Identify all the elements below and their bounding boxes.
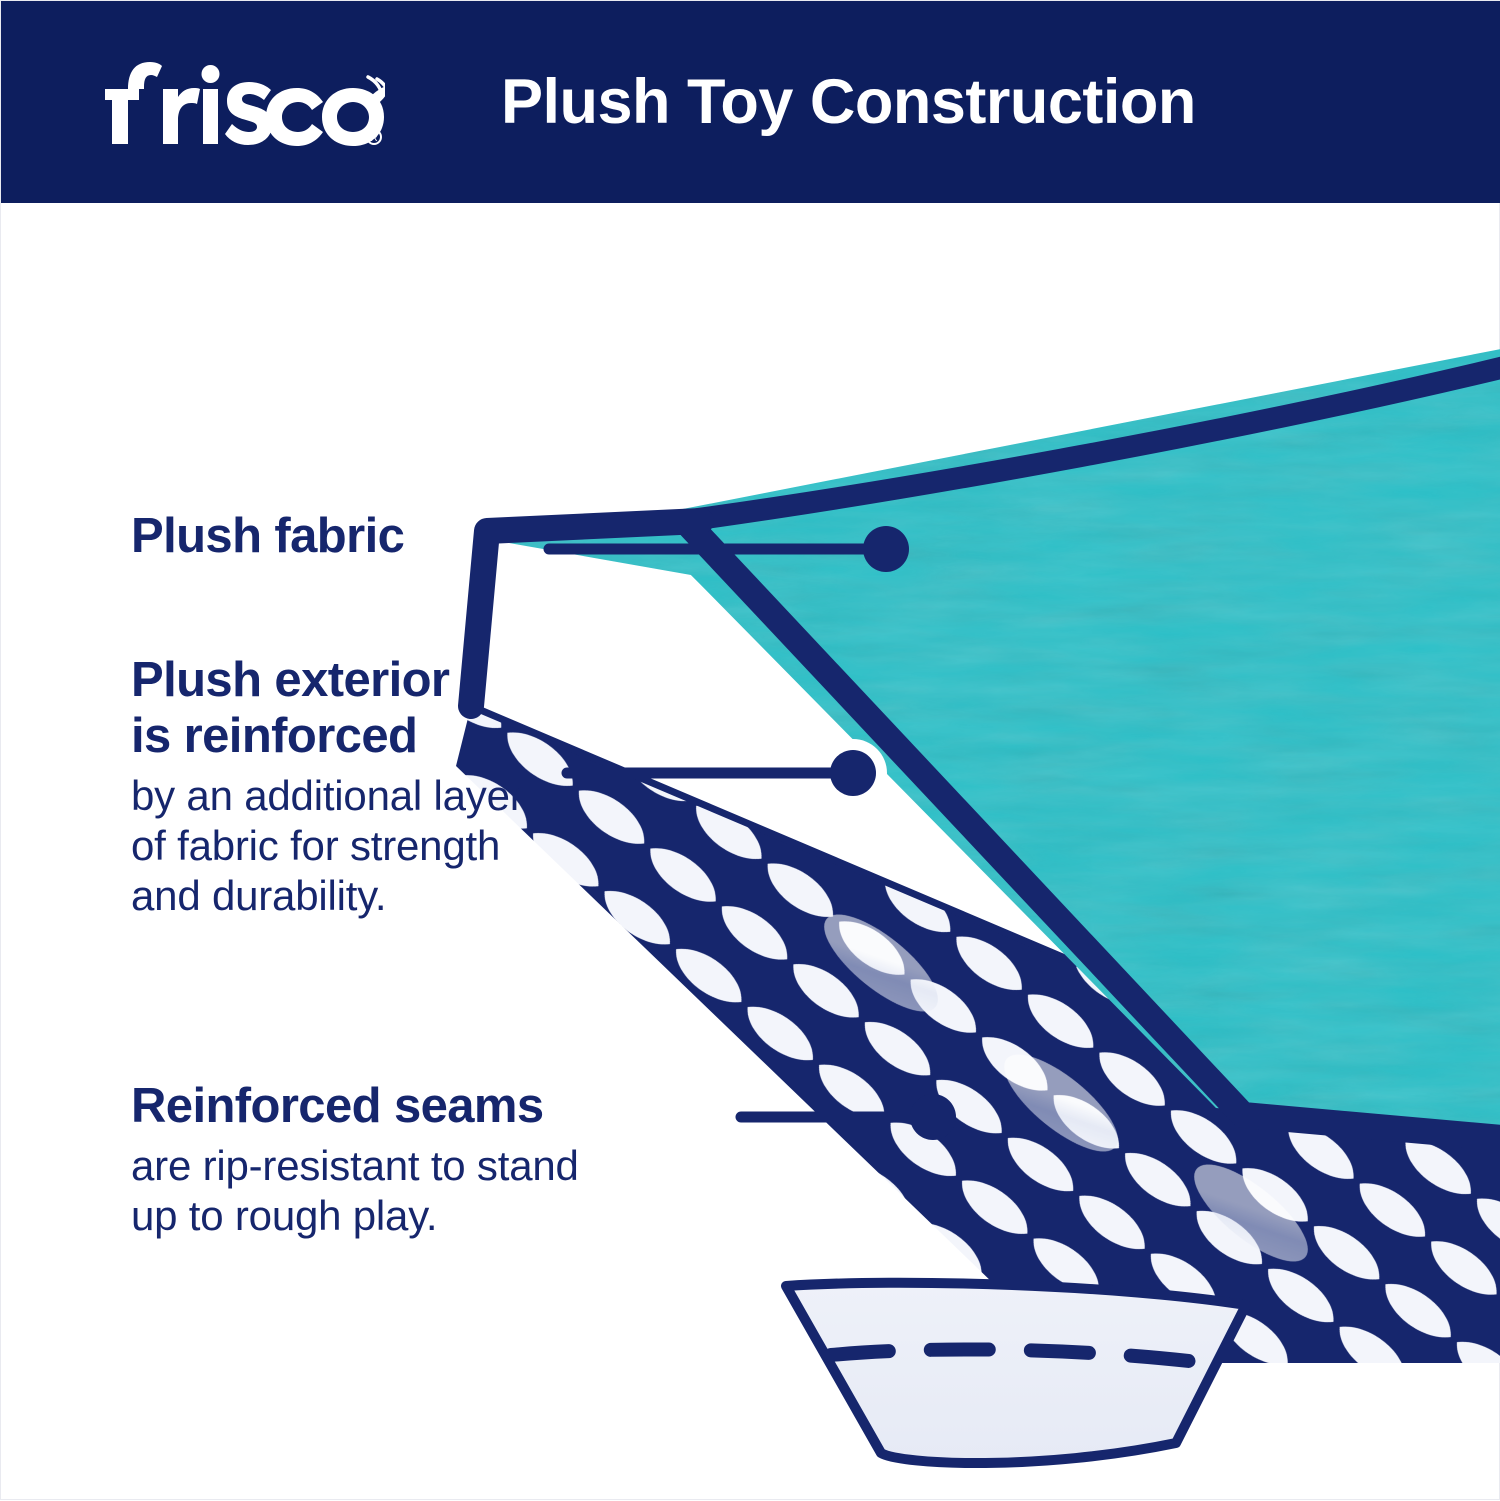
svg-text:R: R (370, 133, 377, 144)
callout-reinforced-seams: Reinforced seams are rip-resistant to st… (131, 1079, 579, 1241)
callout-plush-fabric: Plush fabric (131, 509, 404, 565)
callout-headline: Plush fabric (131, 509, 404, 565)
callout-body: by an additional layer of fabric for str… (131, 771, 524, 921)
callout-headline: Plush exterior is reinforced (131, 653, 524, 765)
callout-body: are rip-resistant to stand up to rough p… (131, 1141, 579, 1241)
seam-flap (786, 1283, 1246, 1463)
header-bar: R Plush Toy Construction (1, 1, 1500, 203)
frisco-logo: R (85, 45, 385, 155)
infographic-page: R Plush Toy Construction (0, 0, 1500, 1500)
callout-headline: Reinforced seams (131, 1079, 579, 1135)
callout-plush-exterior: Plush exterior is reinforced by an addit… (131, 653, 524, 921)
page-title: Plush Toy Construction (501, 1, 1196, 203)
